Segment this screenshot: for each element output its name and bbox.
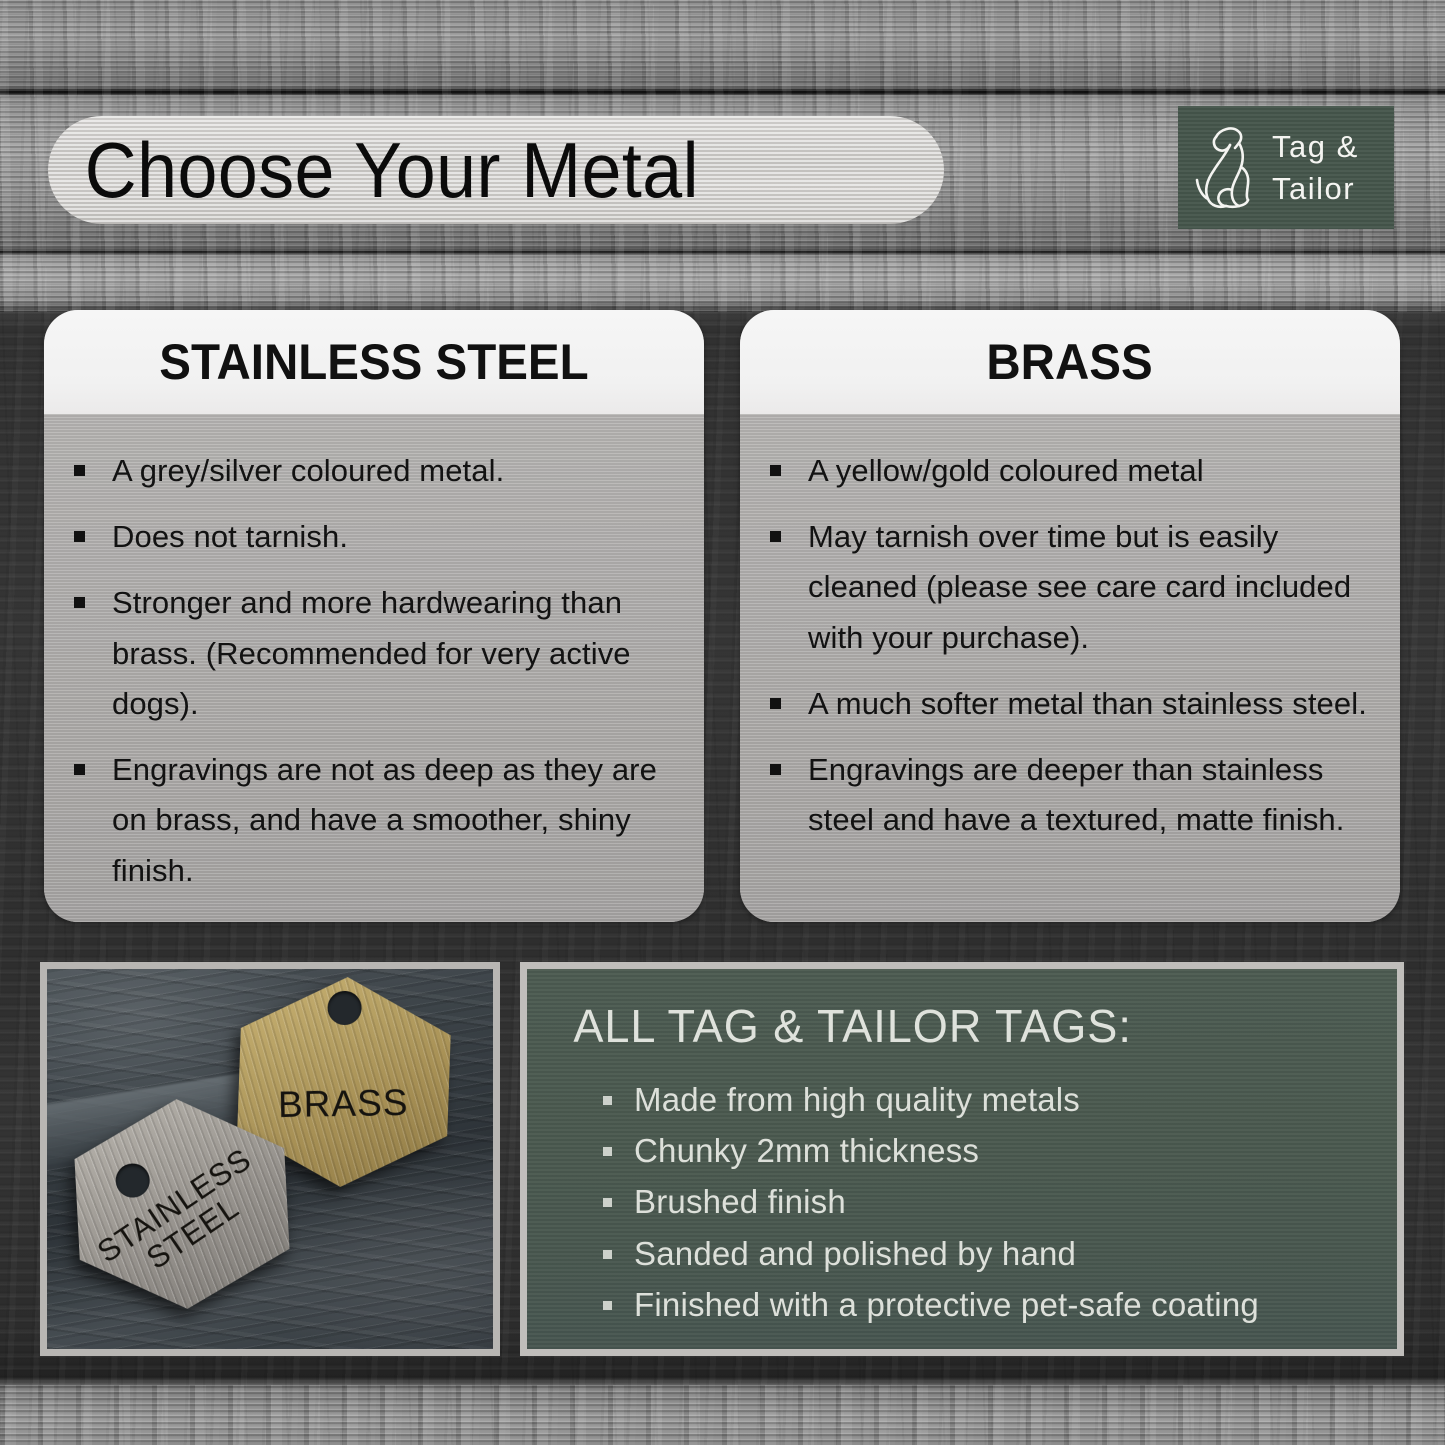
- wood-bottom-plank-texture: [0, 1385, 1445, 1445]
- logo-wordmark: Tag & Tailor: [1272, 126, 1359, 210]
- card-body-stainless-steel: A grey/silver coloured metal. Does not t…: [44, 414, 704, 922]
- all-tags-panel-title: ALL TAG & TAILOR TAGS:: [573, 999, 1388, 1053]
- square-bullet-icon: [603, 1301, 612, 1310]
- list-item-text: Does not tarnish.: [112, 512, 348, 562]
- list-item-text: Sanded and polished by hand: [634, 1233, 1076, 1275]
- list-item-text: A grey/silver coloured metal.: [112, 446, 504, 496]
- list-item: Finished with a protective pet-safe coat…: [603, 1284, 1397, 1326]
- list-item: Brushed finish: [603, 1181, 1397, 1223]
- list-item: A yellow/gold coloured metal: [770, 446, 1372, 496]
- list-item-text: Stronger and more hardwearing than brass…: [112, 578, 676, 729]
- list-item: Sanded and polished by hand: [603, 1233, 1397, 1275]
- square-bullet-icon: [74, 531, 85, 542]
- list-item: Chunky 2mm thickness: [603, 1130, 1397, 1172]
- title-banner: Choose Your Metal: [48, 116, 944, 224]
- metal-card-stainless-steel: STAINLESS STEEL A grey/silver coloured m…: [44, 310, 704, 922]
- list-item: Does not tarnish.: [74, 512, 676, 562]
- list-item: Made from high quality metals: [603, 1079, 1397, 1121]
- list-item-text: May tarnish over time but is easily clea…: [808, 512, 1372, 663]
- list-item-text: A much softer metal than stainless steel…: [808, 679, 1367, 729]
- square-bullet-icon: [770, 465, 781, 476]
- square-bullet-icon: [770, 698, 781, 709]
- list-item-text: Engravings are deeper than stainless ste…: [808, 745, 1372, 845]
- square-bullet-icon: [74, 597, 85, 608]
- list-item: Stronger and more hardwearing than brass…: [74, 578, 676, 729]
- square-bullet-icon: [603, 1198, 612, 1207]
- square-bullet-icon: [603, 1147, 612, 1156]
- page-title: Choose Your Metal: [48, 131, 699, 209]
- feature-list-brass: A yellow/gold coloured metal May tarnish…: [770, 446, 1372, 846]
- list-item: Engravings are not as deep as they are o…: [74, 745, 676, 896]
- square-bullet-icon: [603, 1250, 612, 1259]
- list-item-text: Chunky 2mm thickness: [634, 1130, 979, 1172]
- all-tags-feature-list: Made from high quality metals Chunky 2mm…: [565, 1079, 1397, 1326]
- list-item-text: Finished with a protective pet-safe coat…: [634, 1284, 1259, 1326]
- list-item: May tarnish over time but is easily clea…: [770, 512, 1372, 663]
- feature-list-stainless-steel: A grey/silver coloured metal. Does not t…: [74, 446, 676, 896]
- list-item-text: A yellow/gold coloured metal: [808, 446, 1204, 496]
- card-title-brass: BRASS: [987, 333, 1153, 391]
- dog-line-art-icon: [1190, 122, 1266, 214]
- all-tags-panel: ALL TAG & TAILOR TAGS: Made from high qu…: [520, 962, 1404, 1356]
- logo-line-1: Tag &: [1272, 126, 1359, 168]
- square-bullet-icon: [770, 531, 781, 542]
- list-item: Engravings are deeper than stainless ste…: [770, 745, 1372, 845]
- square-bullet-icon: [770, 764, 781, 775]
- card-header-stainless-steel: STAINLESS STEEL: [44, 310, 704, 414]
- square-bullet-icon: [74, 465, 85, 476]
- list-item-text: Engravings are not as deep as they are o…: [112, 745, 676, 896]
- square-bullet-icon: [74, 764, 85, 775]
- brand-logo: Tag & Tailor: [1178, 106, 1394, 229]
- infographic-page: Choose Your Metal Tag & Tailor STAINLESS…: [0, 0, 1445, 1445]
- card-header-brass: BRASS: [740, 310, 1400, 414]
- card-title-stainless-steel: STAINLESS STEEL: [159, 333, 588, 391]
- list-item: A grey/silver coloured metal.: [74, 446, 676, 496]
- list-item-text: Made from high quality metals: [634, 1079, 1080, 1121]
- logo-line-2: Tailor: [1272, 168, 1359, 210]
- list-item: A much softer metal than stainless steel…: [770, 679, 1372, 729]
- square-bullet-icon: [603, 1096, 612, 1105]
- card-body-brass: A yellow/gold coloured metal May tarnish…: [740, 414, 1400, 922]
- product-photo-tags: BRASS STAINLESS STEEL: [40, 962, 500, 1356]
- metal-card-brass: BRASS A yellow/gold coloured metal May t…: [740, 310, 1400, 922]
- list-item-text: Brushed finish: [634, 1181, 846, 1223]
- stainless-steel-tag: STAINLESS STEEL: [72, 1094, 293, 1315]
